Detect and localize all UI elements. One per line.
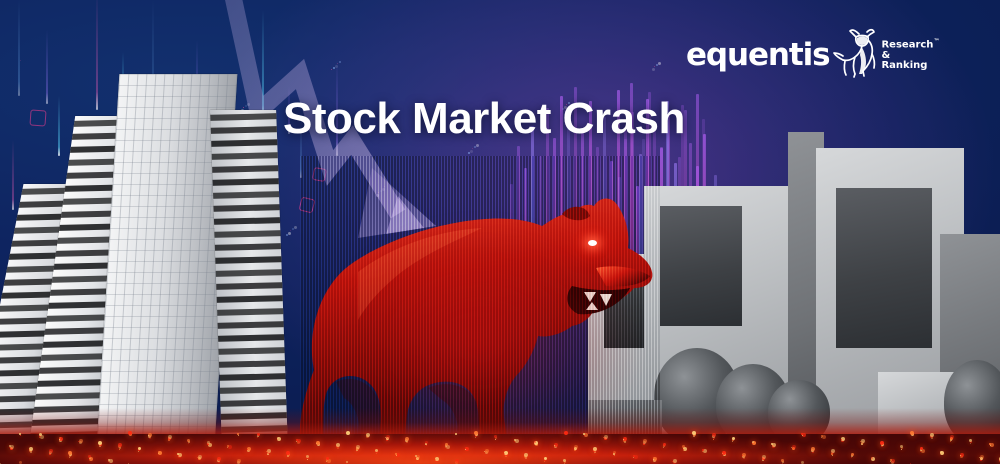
ember-spark: [841, 439, 842, 440]
ember-spark: [584, 435, 585, 436]
ember-spark: [871, 457, 873, 459]
ember-spark: [435, 459, 436, 460]
ember-spark: [307, 459, 308, 460]
ember-glow-fade: [0, 408, 1000, 434]
ember-spark: [9, 445, 11, 447]
ember-spark: [524, 453, 528, 457]
ember-spark: [68, 451, 72, 455]
page-title: Stock Market Crash: [283, 97, 685, 141]
ember-spark: [713, 439, 714, 440]
ember-spark: [227, 445, 229, 447]
ember-spark: [39, 433, 42, 436]
logo-tagline-research: Research: [881, 39, 933, 50]
ember-spark: [594, 453, 595, 454]
ember-spark: [544, 461, 545, 462]
ember-spark: [267, 449, 271, 453]
ember-spark: [376, 453, 377, 454]
ember-spark: [792, 445, 796, 449]
ember-spark: [425, 441, 428, 444]
ember-spark: [960, 455, 961, 456]
ember-spark: [683, 449, 684, 450]
ember-spark: [563, 459, 566, 462]
ember-spark: [544, 457, 547, 460]
ember-spark: [465, 449, 466, 450]
ember-spark: [326, 457, 329, 460]
stock-market-crash-banner: Stock Market Crash equentis: [0, 0, 1000, 464]
ember-spark: [426, 445, 427, 446]
ember-spark: [49, 449, 53, 453]
ember-spark: [969, 439, 972, 442]
ember-spark: [732, 441, 733, 442]
ember-spark: [316, 443, 317, 444]
facade-band: [210, 113, 284, 121]
ember-spark: [494, 435, 497, 438]
ember-spark: [138, 447, 141, 450]
ember-spark: [306, 455, 309, 458]
ember-spark: [455, 433, 457, 435]
ember-spark: [970, 443, 971, 444]
ember-spark: [346, 431, 350, 435]
ember-spark: [593, 447, 597, 451]
ember-spark: [59, 437, 61, 439]
ember-spark: [465, 447, 467, 449]
ember-spark: [158, 453, 159, 454]
ember-spark: [554, 445, 555, 446]
ember-spark: [633, 455, 635, 457]
bull-icon: [831, 26, 877, 78]
ember-spark: [653, 459, 654, 460]
ember-spark: [455, 459, 459, 463]
ember-spark: [861, 439, 865, 443]
ember-spark: [118, 443, 122, 447]
logo-tagline-ranking: Ranking: [881, 61, 939, 71]
ember-spark: [722, 453, 723, 454]
ember-spark: [207, 441, 210, 444]
ember-spark: [564, 431, 568, 435]
ember-spark: [851, 453, 854, 456]
ember-spark: [762, 455, 766, 459]
facade-band: [210, 126, 285, 134]
ember-spark: [178, 455, 179, 456]
ember-spark: [405, 437, 409, 441]
ember-spark: [990, 445, 991, 446]
ember-spark: [346, 461, 348, 463]
ember-spark: [119, 449, 120, 450]
bse-building: [0, 51, 290, 446]
nse-glass-panel-4: [836, 188, 932, 348]
ember-spark: [752, 443, 753, 444]
bear-eye-icon: [588, 240, 597, 246]
ember-spark: [901, 449, 902, 450]
ember-spark: [128, 431, 132, 435]
ember-spark: [663, 443, 666, 446]
ember-spark: [485, 449, 489, 453]
ember-spark: [673, 459, 677, 463]
ember-spark: [59, 439, 60, 440]
ember-spark: [98, 441, 102, 445]
ember-spark: [208, 445, 209, 446]
logo-tagline: Research™ & Ranking: [881, 39, 939, 71]
ember-spark: [415, 455, 417, 457]
ember-spark: [910, 431, 914, 435]
ember-spark: [19, 433, 21, 435]
ember-spark: [821, 435, 823, 437]
ember-spark: [692, 431, 696, 435]
ember-spark: [980, 455, 984, 459]
ember-spark: [356, 451, 357, 452]
ember-spark: [475, 437, 476, 438]
ember-spark: [940, 453, 941, 454]
ember-spark: [752, 441, 754, 443]
ember-spark: [386, 435, 390, 439]
ember-spark: [623, 439, 624, 440]
ember-spark: [445, 443, 448, 446]
ember-ground: [0, 434, 1000, 464]
ember-spark: [831, 449, 835, 453]
ember-spark: [663, 447, 664, 448]
trademark-icon: ™: [933, 38, 939, 45]
ember-spark: [238, 435, 239, 436]
ember-spark: [69, 457, 70, 458]
ember-spark: [950, 435, 954, 439]
ember-spark: [277, 437, 279, 439]
ember-spark: [148, 435, 149, 436]
ember-spark: [257, 433, 260, 436]
ember-spark: [871, 459, 872, 460]
ember-spark: [495, 439, 496, 440]
ember-spark: [643, 439, 647, 443]
ember-spark: [286, 451, 290, 455]
ember-spark: [880, 441, 884, 445]
ember-spark: [940, 451, 942, 453]
ember-spark: [811, 447, 815, 451]
ember-spark: [366, 435, 367, 436]
ember-spark: [356, 445, 360, 449]
ember-spark: [237, 433, 239, 435]
ember-spark: [188, 443, 189, 444]
ember-spark: [950, 441, 951, 442]
ember-spark: [712, 433, 716, 437]
ember-spark: [336, 443, 340, 447]
ember-spark: [217, 457, 221, 461]
ember-spark: [614, 455, 615, 456]
ember-spark: [198, 455, 202, 459]
ember-spark: [396, 455, 397, 456]
ember-spark: [534, 443, 535, 444]
ember-spark: [247, 449, 248, 450]
ember-spark: [20, 435, 21, 436]
logo-wordmark: equentis: [686, 40, 829, 71]
ember-spark: [742, 455, 743, 456]
ember-spark: [832, 455, 833, 456]
equentis-logo: equentis Research™ & R: [686, 26, 939, 78]
ember-spark: [574, 445, 578, 449]
ember-spark: [138, 451, 139, 452]
ember-spark: [772, 445, 773, 446]
ember-spark: [604, 435, 608, 439]
ember-spark: [851, 457, 852, 458]
ember-spark: [504, 453, 505, 454]
ember-spark: [187, 439, 190, 442]
ember-spark: [168, 435, 172, 439]
ember-spark: [930, 433, 934, 437]
ember-spark: [802, 435, 803, 436]
ember-spark: [375, 449, 378, 452]
ember-spark: [89, 459, 90, 460]
ember-spark: [158, 451, 160, 453]
ember-spark: [920, 447, 923, 450]
ember-spark: [257, 437, 258, 438]
ember-spark: [29, 449, 30, 450]
ember-spark: [613, 451, 616, 454]
ember-spark: [474, 431, 478, 435]
ember-spark: [534, 441, 536, 443]
ember-spark: [237, 459, 241, 463]
ember-spark: [79, 439, 83, 443]
ember-spark: [781, 459, 784, 462]
ember-spark: [732, 437, 735, 440]
ember-spark: [653, 457, 655, 459]
ember-spark: [277, 439, 278, 440]
ember-spark: [900, 445, 903, 448]
